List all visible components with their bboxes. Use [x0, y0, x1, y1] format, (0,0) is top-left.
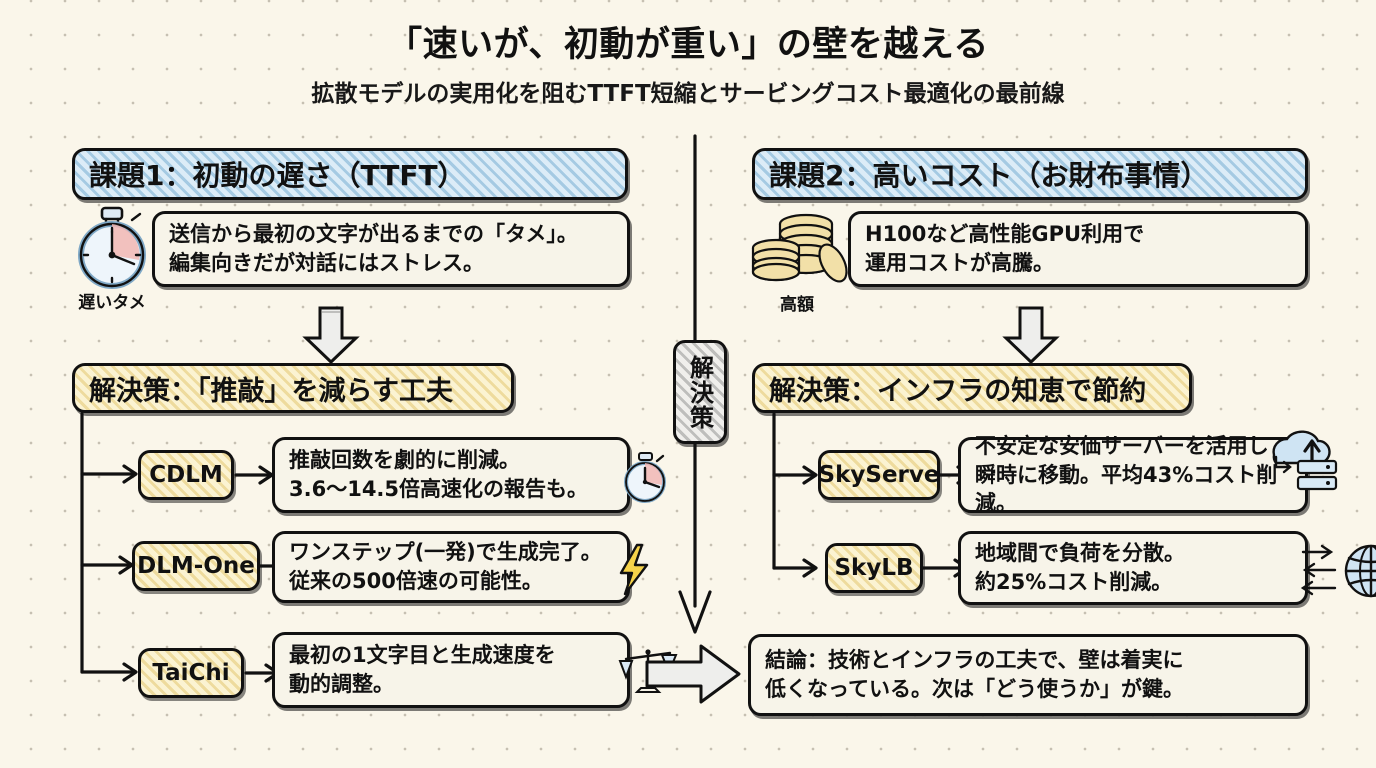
detail-dlm-one-line2: 従来の500倍速の可能性。: [289, 567, 615, 596]
detail-cdlm-line2: 3.6〜14.5倍高速化の報告も。: [289, 475, 615, 504]
left-problem-text-line2: 編集向きだが対話にはストレス。: [169, 249, 615, 278]
pill-taichi[interactable]: TaiChi: [138, 648, 244, 698]
right-solution-header: 解決策：インフラの知恵で節約: [752, 363, 1192, 413]
detail-box-skyserve: 不安定な安価サーバーを活用し 瞬時に移動。平均43%コスト削減。: [958, 437, 1308, 513]
right-solution-header-label: 解決策：インフラの知恵で節約: [769, 369, 1146, 408]
pill-dlm-one-label: DLM-One: [137, 553, 255, 579]
detail-skyserve-line1: 不安定な安価サーバーを活用し: [975, 432, 1293, 461]
center-arrow-label: 解決策: [683, 355, 718, 430]
pill-cdlm-label: CDLM: [149, 462, 223, 488]
left-problem-header-label: 課題1：初動の遅さ（TTFT）: [89, 154, 466, 194]
detail-skylb-line2: 約25%コスト削減。: [975, 568, 1293, 597]
detail-skylb-line1: 地域間で負荷を分散。: [975, 539, 1293, 568]
conclusion-arrow: [645, 640, 745, 712]
pill-skylb[interactable]: SkyLB: [825, 543, 923, 593]
conclusion-line2: 低くなっている。次は「どう使うか」が鍵。: [765, 675, 1293, 704]
right-problem-header-label: 課題2：高いコスト（お財布事情）: [769, 154, 1208, 194]
conclusion-line1: 結論：技術とインフラの工夫で、壁は着実に: [765, 646, 1293, 675]
pill-cdlm[interactable]: CDLM: [138, 450, 234, 500]
detail-taichi-line1: 最初の1文字目と生成速度を: [289, 641, 615, 670]
detail-dlm-one-line1: ワンステップ(一発)で生成完了。: [289, 538, 615, 567]
left-problem-text-line1: 送信から最初の文字が出るまでの「タメ」。: [169, 220, 615, 249]
pill-skyserve-label: SkyServe: [819, 462, 940, 488]
left-down-arrow: [300, 306, 370, 366]
pill-skyserve[interactable]: SkyServe: [818, 450, 940, 500]
left-problem-icon-caption: 遅いタメ: [62, 288, 162, 313]
detail-box-cdlm: 推敲回数を劇的に削減。 3.6〜14.5倍高速化の報告も。: [272, 437, 630, 513]
right-problem-text-box: H100など高性能GPU利用で 運用コストが高騰。: [848, 211, 1308, 287]
detail-box-taichi: 最初の1文字目と生成速度を 動的調整。: [272, 632, 630, 708]
detail-taichi-line2: 動的調整。: [289, 670, 615, 699]
left-solution-header-label: 解決策：「推敲」を減らす工夫: [89, 369, 453, 408]
left-solution-header: 解決策：「推敲」を減らす工夫: [72, 363, 514, 413]
right-problem-text-line1: H100など高性能GPU利用で: [865, 220, 1293, 249]
detail-box-skylb: 地域間で負荷を分散。 約25%コスト削減。: [958, 531, 1308, 605]
conclusion-box: 結論：技術とインフラの工夫で、壁は着実に 低くなっている。次は「どう使うか」が鍵…: [748, 634, 1308, 716]
detail-skyserve-line2: 瞬時に移動。平均43%コスト削減。: [975, 461, 1293, 519]
right-problem-header: 課題2：高いコスト（お財布事情）: [752, 148, 1308, 200]
right-problem-icon-caption: 高額: [752, 290, 842, 315]
center-arrow-label-box: 解決策: [673, 340, 727, 444]
left-problem-header: 課題1：初動の遅さ（TTFT）: [72, 148, 628, 200]
pill-taichi-label: TaiChi: [152, 660, 229, 686]
right-down-arrow: [1000, 306, 1070, 366]
pill-dlm-one[interactable]: DLM-One: [132, 541, 260, 591]
pill-skylb-label: SkyLB: [834, 555, 913, 581]
page-subtitle: 拡散モデルの実用化を阻むTTFT短縮とサービングコスト最適化の最前線: [0, 74, 1376, 108]
detail-box-dlm-one: ワンステップ(一発)で生成完了。 従来の500倍速の可能性。: [272, 531, 630, 603]
detail-cdlm-line1: 推敲回数を劇的に削減。: [289, 446, 615, 475]
page-title: 「速いが、初動が重い」の壁を越える: [0, 16, 1376, 67]
left-problem-text-box: 送信から最初の文字が出るまでの「タメ」。 編集向きだが対話にはストレス。: [152, 211, 630, 287]
right-problem-text-line2: 運用コストが高騰。: [865, 249, 1293, 278]
